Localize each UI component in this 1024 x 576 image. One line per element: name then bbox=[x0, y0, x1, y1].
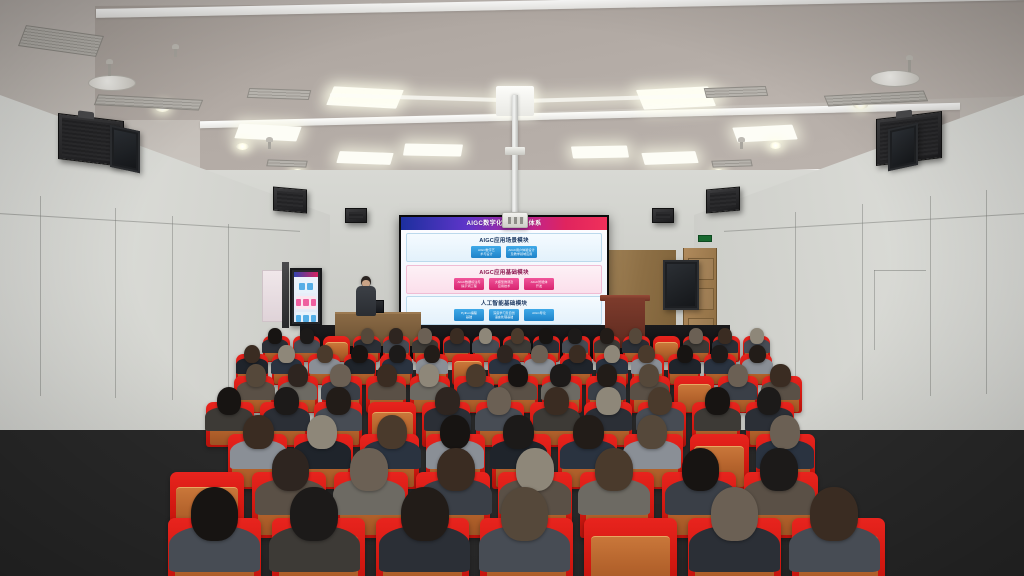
attendee-head bbox=[466, 364, 486, 387]
attendee-head bbox=[326, 387, 351, 415]
auxiliary-chip bbox=[307, 283, 313, 290]
attendee-head bbox=[244, 345, 261, 364]
air-vent-3 bbox=[247, 88, 311, 100]
lecture-hall-scene: AIGC数字化人才培养体系 AIGC应用场景模块 AIGC数字艺 术与设计 AI… bbox=[0, 0, 1024, 576]
attendee-head bbox=[597, 364, 617, 387]
tier-chip: Python编程 基础 bbox=[454, 309, 484, 321]
auditorium-seat[interactable] bbox=[584, 518, 678, 576]
wall-monitor-screen bbox=[114, 130, 136, 169]
slide-tier-application-scenario: AIGC应用场景模块 AIGC数字艺 术与设计 AIGC用户体验设计 及教学领域… bbox=[406, 233, 602, 262]
attendee-head bbox=[757, 387, 782, 415]
downlight-2 bbox=[236, 143, 249, 150]
attendee-head bbox=[401, 487, 449, 541]
speaker-right-rear bbox=[706, 187, 740, 214]
auxiliary-title-bar bbox=[294, 272, 318, 277]
attendee-head bbox=[550, 364, 570, 387]
attendee-head bbox=[705, 387, 730, 415]
tier-heading: AIGC应用场景模块 bbox=[479, 236, 529, 244]
attendee-head bbox=[637, 415, 667, 449]
attendee-head bbox=[243, 415, 273, 449]
wall-monitor-left[interactable] bbox=[110, 125, 140, 173]
attendee-head bbox=[639, 364, 659, 387]
attendee-head bbox=[596, 387, 621, 415]
tier-chip: AIGC数据标注与 提示词工程 bbox=[454, 278, 484, 290]
attendee-head bbox=[300, 328, 314, 343]
attendee-head bbox=[760, 448, 798, 490]
attendee-head bbox=[750, 328, 764, 343]
speaker-bracket bbox=[896, 110, 911, 119]
attendee-head bbox=[573, 415, 603, 449]
auxiliary-chip bbox=[303, 299, 308, 306]
tier-chip: AIGC用户体验设计 及教学领域应用 bbox=[506, 246, 536, 258]
tier-heading: AIGC应用基础模块 bbox=[479, 268, 529, 276]
speaker-grill-icon bbox=[710, 191, 736, 209]
attendee-head bbox=[569, 345, 586, 364]
attendee-head bbox=[600, 328, 614, 343]
attendee-head bbox=[389, 328, 403, 343]
light-panel-right-3 bbox=[641, 151, 698, 165]
wall-seam-r-bracket bbox=[874, 270, 926, 271]
tier-chip-row: AIGC数字艺 术与设计 AIGC用户体验设计 及教学领域应用 bbox=[410, 246, 598, 258]
tier-chip: 深度学习及自然 语言处理基础 bbox=[489, 309, 519, 321]
attendee-head bbox=[418, 328, 432, 343]
attendee-head bbox=[677, 345, 694, 364]
speaker-stage-left bbox=[345, 208, 367, 223]
tier-chip: AIGC智能体 开发 bbox=[524, 278, 554, 290]
sprinkler-left-3 bbox=[174, 47, 177, 57]
auxiliary-tier-1 bbox=[296, 280, 316, 293]
attendee-head bbox=[424, 345, 441, 364]
attendee-head bbox=[437, 448, 475, 490]
ceiling-dome-light-left bbox=[88, 75, 136, 91]
tier-chip-row: AIGC数据标注与 提示词工程 大模型微调及 应用技术 AIGC智能体 开发 bbox=[410, 278, 598, 290]
wall-display-screen bbox=[667, 264, 695, 306]
presentation-slide: AIGC数字化人才培养体系 AIGC应用场景模块 AIGC数字艺 术与设计 AI… bbox=[401, 217, 607, 327]
audience-seating bbox=[0, 330, 1024, 576]
attendee-head bbox=[508, 364, 528, 387]
speaker-grill-icon bbox=[277, 191, 303, 209]
attendee-head bbox=[351, 345, 368, 364]
tier-chip: 大模型微调及 应用技术 bbox=[489, 278, 519, 290]
attendee-head bbox=[361, 328, 375, 343]
speaker-left-rear bbox=[273, 187, 307, 214]
attendee-head bbox=[317, 345, 334, 364]
attendee-head bbox=[711, 345, 728, 364]
attendee-head bbox=[268, 328, 282, 343]
attendee-head bbox=[419, 364, 439, 387]
attendee-head bbox=[288, 364, 308, 387]
attendee-head bbox=[511, 328, 525, 343]
attendee-head bbox=[749, 345, 766, 364]
attendee-head bbox=[810, 487, 858, 541]
attendee-head bbox=[682, 448, 720, 490]
attendee-head bbox=[648, 387, 673, 415]
presenter bbox=[355, 276, 377, 318]
attendee-head bbox=[487, 387, 512, 415]
attendee-head bbox=[501, 487, 549, 541]
attendee-head bbox=[450, 328, 464, 343]
attendee-head bbox=[604, 345, 621, 364]
attendee-head bbox=[307, 415, 337, 449]
light-panel-right-4 bbox=[571, 146, 629, 159]
attendee-head bbox=[770, 364, 790, 387]
attendee-head bbox=[629, 328, 643, 343]
attendee-head bbox=[568, 328, 582, 343]
downlight-6 bbox=[769, 142, 782, 149]
ceiling-projector bbox=[502, 212, 528, 228]
speaker-stage-right bbox=[652, 208, 674, 223]
sprinkler-right bbox=[908, 58, 911, 72]
attendee-head bbox=[531, 345, 548, 364]
slide-tier-application-foundation: AIGC应用基础模块 AIGC数据标注与 提示词工程 大模型微调及 应用技术 A… bbox=[406, 265, 602, 294]
attendee-head bbox=[544, 387, 569, 415]
wall-monitor-right[interactable] bbox=[888, 123, 918, 171]
auxiliary-chip bbox=[311, 315, 316, 322]
tier-chip-row: Python编程 基础 深度学习及自然 语言处理基础 AIGC导论 bbox=[410, 309, 598, 321]
exit-sign bbox=[698, 235, 712, 242]
auxiliary-chip bbox=[311, 299, 316, 306]
attendee-head bbox=[290, 487, 338, 541]
attendee-head bbox=[272, 448, 310, 490]
tier-chip: AIGC导论 bbox=[524, 309, 554, 321]
attendee-head bbox=[503, 415, 533, 449]
attendee-head bbox=[595, 448, 633, 490]
auxiliary-chip bbox=[299, 283, 305, 290]
attendee-head bbox=[377, 415, 407, 449]
speaker-grill-icon bbox=[349, 212, 363, 219]
auxiliary-portrait-display[interactable] bbox=[290, 268, 322, 326]
air-vent-8 bbox=[711, 159, 752, 167]
ceiling-dome-light-right bbox=[870, 70, 920, 87]
light-panel-left-3 bbox=[336, 151, 393, 165]
speaker-grill-icon bbox=[656, 212, 670, 219]
attendee-head bbox=[330, 364, 350, 387]
attendee-head bbox=[435, 387, 460, 415]
attendee-head bbox=[728, 364, 748, 387]
attendee-head bbox=[711, 487, 759, 541]
seat-cushion bbox=[591, 536, 670, 576]
slide-body: AIGC应用场景模块 AIGC数字艺 术与设计 AIGC用户体验设计 及教学领域… bbox=[401, 230, 607, 327]
attendee-head bbox=[638, 345, 655, 364]
tier-chip: AIGC数字艺 术与设计 bbox=[471, 246, 501, 258]
attendee-head bbox=[377, 364, 397, 387]
attendee-head bbox=[246, 364, 266, 387]
attendee-head bbox=[389, 345, 406, 364]
presenter-torso bbox=[356, 286, 376, 316]
front-left-dark-strip bbox=[282, 262, 289, 328]
attendee-head bbox=[278, 345, 295, 364]
auxiliary-chip bbox=[303, 315, 308, 322]
tier-heading: 人工智能基础模块 bbox=[481, 299, 527, 307]
auxiliary-chip bbox=[296, 299, 301, 306]
auxiliary-display-screen bbox=[294, 272, 318, 322]
attendee-head bbox=[497, 345, 514, 364]
attendee-head bbox=[516, 448, 554, 490]
projection-screen: AIGC数字化人才培养体系 AIGC应用场景模块 AIGC数字艺 术与设计 AI… bbox=[399, 215, 609, 329]
attendee-head bbox=[217, 387, 242, 415]
attendee-head bbox=[274, 387, 299, 415]
attendee-head bbox=[689, 328, 703, 343]
light-panel-left-4 bbox=[403, 144, 463, 157]
speaker-bracket bbox=[78, 110, 93, 119]
attendee-head bbox=[479, 328, 493, 343]
sprinkler-right-2 bbox=[740, 140, 743, 149]
wall-display-stage-right[interactable] bbox=[663, 260, 699, 310]
attendee-head bbox=[350, 448, 388, 490]
projector-mount-pole bbox=[512, 95, 518, 223]
slide-tier-ai-foundation: 人工智能基础模块 Python编程 基础 深度学习及自然 语言处理基础 AIGC… bbox=[406, 296, 602, 325]
projector-pole-collar bbox=[505, 147, 525, 155]
auxiliary-chip bbox=[296, 315, 301, 322]
attendee-head bbox=[770, 415, 800, 449]
sprinkler-left bbox=[108, 62, 111, 76]
auxiliary-tier-3 bbox=[296, 312, 316, 322]
auxiliary-tier-2 bbox=[296, 296, 316, 309]
attendee-head bbox=[718, 328, 732, 343]
wall-monitor-screen bbox=[892, 128, 914, 167]
air-vent-4 bbox=[266, 159, 307, 167]
attendee-head bbox=[191, 487, 239, 541]
attendee-head bbox=[440, 415, 470, 449]
sprinkler-left-2 bbox=[268, 140, 271, 149]
attendee-head bbox=[539, 328, 553, 343]
